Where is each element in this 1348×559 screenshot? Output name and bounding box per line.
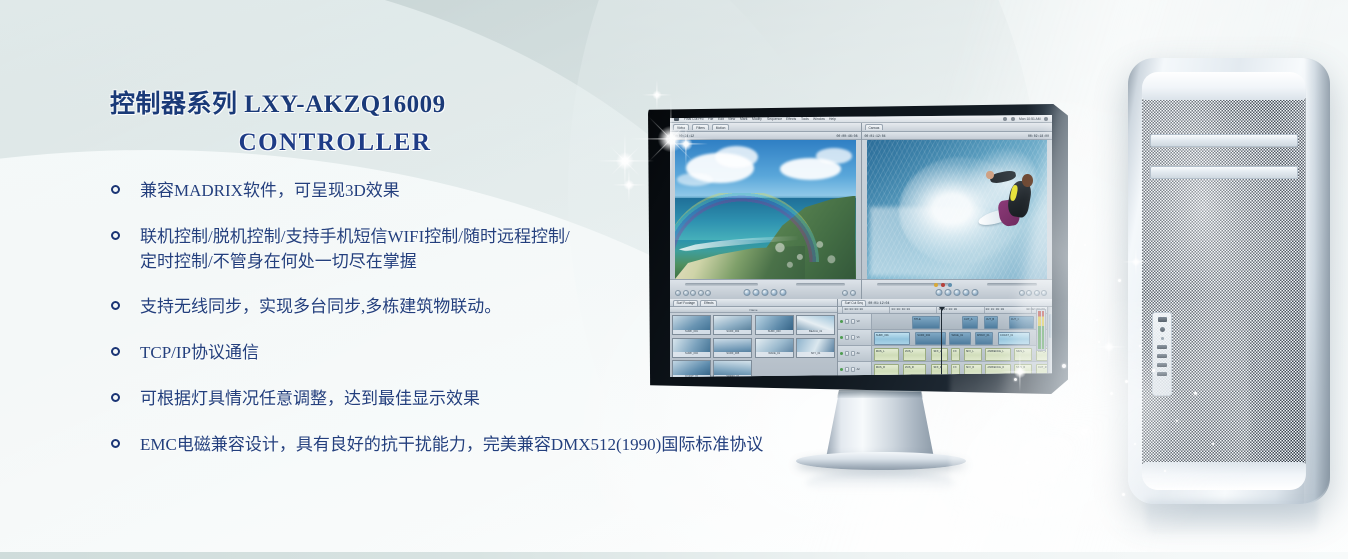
coastline-rainbow-image: [675, 140, 856, 279]
render-status-icon: [934, 283, 938, 287]
timeline-clip[interactable]: CUT_C: [1009, 316, 1034, 329]
list-item[interactable]: BEACH_01: [796, 315, 835, 335]
viewer-video-canvas: [675, 140, 856, 279]
canvas-go-to-end-icon[interactable]: [971, 289, 978, 296]
go-to-start-icon[interactable]: [744, 289, 751, 296]
surfer-hand: [986, 171, 993, 180]
audio-meter: [1036, 309, 1046, 351]
canvas-video-canvas: [867, 140, 1048, 279]
timeline-clip[interactable]: AMBIENCE_L: [985, 348, 1010, 361]
browser-column-header[interactable]: Name: [670, 307, 837, 313]
track-audible-icon[interactable]: [840, 368, 843, 371]
search-icon[interactable]: [1044, 117, 1048, 121]
track-visibility-icon[interactable]: [840, 336, 843, 339]
view-options-icon[interactable]: [1034, 290, 1040, 296]
clip-label: SURF_005: [714, 352, 751, 357]
clip-label: WAVE_01: [951, 333, 963, 339]
track-label: A1: [857, 352, 860, 355]
clip-label: MUS_L: [905, 349, 914, 355]
clip-label: OUT_R: [1038, 365, 1047, 371]
timeline-ruler[interactable]: 00:00:00:00 00:00:30:00 00:01:00:00 00:0…: [838, 307, 1052, 314]
list-item[interactable]: SPRAY_01: [713, 360, 752, 377]
canvas-zoom-slider[interactable]: [987, 283, 1037, 286]
audio-status-icon: [948, 283, 952, 287]
track-lock-icon[interactable]: [845, 335, 850, 340]
menubar-status-area[interactable]: Mon 10:51 AM: [1003, 117, 1048, 121]
track-label: V2: [857, 320, 860, 323]
clip-label: AMBIENCE_L: [987, 349, 1003, 355]
sparkle-star-icon: [1092, 330, 1126, 364]
clip-label: FX: [953, 349, 956, 355]
tower-side-edge: [1304, 58, 1330, 504]
monitor-screen: Final Cut Pro File Edit View Mark Modify…: [670, 115, 1052, 377]
clip-label: MUS_R: [1016, 365, 1025, 371]
track-auto-select-icon[interactable]: [851, 367, 856, 372]
canvas-duration[interactable]: 00:02:18:00: [1028, 134, 1049, 138]
timeline-track[interactable]: V1 SURF_001 SURF_002 WAVE_01 SPRAY_01 CO…: [838, 330, 1052, 346]
clip-label: WAVE_01: [756, 352, 793, 357]
monitor-stand-base: [796, 452, 966, 470]
clip-label: MUS_L: [1016, 349, 1025, 355]
tower-reflection: [1146, 500, 1318, 542]
generators-icon[interactable]: [850, 290, 856, 296]
list-item[interactable]: SURF_004: [672, 338, 711, 358]
viewer-left-buttons[interactable]: [675, 290, 711, 296]
track-audible-icon[interactable]: [840, 352, 843, 355]
tab-video[interactable]: Video: [673, 124, 689, 130]
feature-text: EMC电磁兼容设计，具有良好的抗干扰能力，完美兼容DMX512(1990)国际标…: [140, 432, 850, 457]
list-item[interactable]: SKY_01: [796, 338, 835, 358]
clip-label: SPRAY_01: [977, 333, 990, 339]
list-item: EMC电磁兼容设计，具有良好的抗干扰能力，完美兼容DMX512(1990)国际标…: [110, 432, 850, 457]
scrubber-bar[interactable]: [685, 283, 757, 286]
audio-port-icon[interactable]: [1160, 327, 1165, 332]
clip-label: BEACH_01: [797, 330, 834, 335]
list-item[interactable]: WAVE_01: [755, 338, 794, 358]
menu-item-window[interactable]: Window: [813, 116, 825, 120]
display-monitor: Final Cut Pro File Edit View Mark Modify…: [648, 104, 1068, 394]
canvas-play-reverse-icon[interactable]: [944, 289, 951, 296]
tab-effects[interactable]: Effects: [700, 300, 717, 306]
browser-thumbnail-grid[interactable]: SURF_001 SURF_002 SURF_003 BEACH_01 SURF…: [672, 315, 835, 375]
recent-clips-icon[interactable]: [842, 290, 848, 296]
clip-label: COAST_01: [1000, 333, 1013, 339]
monitor-stand-reflection: [806, 470, 956, 496]
add-keyframe-icon[interactable]: [690, 290, 696, 296]
list-item[interactable]: SURF_001: [672, 315, 711, 335]
clip-label: FX: [953, 365, 956, 371]
clip-label: SFX_R: [966, 365, 974, 371]
track-label: V1: [857, 336, 860, 339]
usb-port-icon[interactable]: [1157, 345, 1167, 349]
timeline-clip[interactable]: MUS_L: [1014, 348, 1032, 361]
menubar-clock[interactable]: Mon 10:51 AM: [1019, 116, 1041, 120]
timeline-scrollbar[interactable]: [1047, 307, 1052, 377]
track-auto-select-icon[interactable]: [851, 335, 856, 340]
canvas-zoom-icon[interactable]: [1041, 290, 1047, 296]
viewer-infobar: 00:00:24:12 00:00:46:08: [670, 132, 861, 140]
bullet-circle-icon: [111, 231, 120, 240]
lower-panels: Surf Footage Effects Name SURF_001 SURF_…: [670, 299, 1052, 377]
timeline-clip[interactable]: MUS_L: [903, 348, 926, 361]
tab-filters[interactable]: Filters: [692, 124, 709, 130]
bottom-accent-strip: [0, 552, 1348, 559]
canvas-status-dots: [934, 283, 952, 287]
canvas-infobar: 00:01:12:04 00:02:18:00: [862, 132, 1053, 140]
list-item[interactable]: SURF_002: [713, 315, 752, 335]
tower-port-bay[interactable]: [1152, 312, 1172, 396]
surfer-figure: [977, 171, 1038, 249]
surfer-head: [1022, 174, 1033, 187]
tower-top-cap: [1142, 72, 1306, 100]
ethernet-port-icon[interactable]: [1157, 372, 1167, 376]
canvas-step-forward-icon[interactable]: [962, 289, 969, 296]
canvas-transport-controls[interactable]: [935, 289, 978, 296]
browser-tabbar[interactable]: Surf Footage Effects: [670, 299, 837, 307]
bullet-circle-icon: [111, 439, 120, 448]
clip-label: SFX_L: [966, 349, 974, 355]
bullet-circle-icon: [111, 347, 120, 356]
timeline-clip[interactable]: FX: [951, 348, 960, 361]
mac-pro-tower: [1128, 58, 1330, 504]
canvas-panel[interactable]: Canvas 00:01:12:04 00:02:18:00: [862, 123, 1053, 299]
bullet-circle-icon: [111, 185, 120, 194]
list-item[interactable]: COAST_01: [672, 360, 711, 377]
canvas-controls[interactable]: [862, 279, 1053, 299]
timeline-clip[interactable]: WAVE_01: [949, 332, 971, 345]
bullet-circle-icon: [111, 301, 120, 310]
clip-label: SURF_002: [714, 330, 751, 335]
transport-controls[interactable]: [744, 289, 787, 296]
track-clips[interactable]: MUS_L MUS_L SFX_L FX SFX_L AMBIENCE_L MU…: [872, 346, 1052, 361]
clip-label: SURF_003: [756, 330, 793, 335]
viewer-controls[interactable]: [670, 279, 861, 299]
canvas-timecode[interactable]: 00:01:12:04: [865, 134, 886, 138]
tab-canvas[interactable]: Canvas: [865, 124, 884, 130]
surfer-wave-image: [867, 140, 1048, 279]
menu-item-help[interactable]: Help: [829, 116, 836, 120]
viewer-panel[interactable]: Video Filters Motion 00:00:24:12 00:00:4…: [670, 123, 862, 299]
sparkle-star-icon: [1038, 466, 1068, 496]
bullet-circle-icon: [111, 393, 120, 402]
track-label: A2: [857, 368, 860, 371]
optical-drive-slot-2[interactable]: [1150, 166, 1298, 179]
timeline-clip[interactable]: CUT_B: [984, 316, 998, 329]
tower-front-panel: [1142, 72, 1306, 490]
timeline-clip[interactable]: SURF_001: [874, 332, 910, 345]
canvas-play-icon[interactable]: [953, 289, 960, 296]
clip-label: SKY_01: [797, 352, 834, 357]
playhead[interactable]: [941, 307, 942, 377]
record-indicator-icon: [941, 283, 945, 287]
track-clips[interactable]: SURF_001 SURF_002 WAVE_01 SPRAY_01 COAST…: [872, 330, 1052, 345]
match-frame-icon[interactable]: [705, 290, 711, 296]
zoom-slider[interactable]: [796, 283, 846, 286]
play-icon[interactable]: [762, 289, 769, 296]
clip-label: SURF_001: [673, 330, 710, 335]
mark-in-icon[interactable]: [675, 290, 681, 296]
timeline-clip[interactable]: SFX_L: [931, 348, 947, 361]
clip-label: CUT_C: [1011, 317, 1020, 323]
go-to-end-icon[interactable]: [780, 289, 787, 296]
battery-icon[interactable]: [1011, 117, 1015, 121]
ruler-label: 00:00:00:00: [844, 308, 862, 311]
tower-mesh-grille: [1142, 98, 1306, 464]
track-lock-icon[interactable]: [845, 319, 850, 324]
timeline-clip[interactable]: COAST_01: [998, 332, 1030, 345]
list-item[interactable]: SURF_003: [755, 315, 794, 335]
display-port-icon[interactable]: [1157, 363, 1167, 367]
timeline-track[interactable]: A1 MUS_L MUS_L SFX_L FX SFX_L AMBIENCE_L…: [838, 346, 1052, 362]
sparkle-star-icon: [1058, 406, 1110, 458]
optical-drive-slot-1[interactable]: [1150, 134, 1298, 147]
track-header[interactable]: A2: [838, 362, 872, 377]
list-item[interactable]: SURF_005: [713, 338, 752, 358]
mark-out-icon[interactable]: [683, 290, 689, 296]
edit-overwrite-icon[interactable]: [1019, 290, 1025, 296]
timeline-panel[interactable]: Surf Cut Seq 00:01:12:04 00:00:00:00 00:…: [838, 299, 1052, 377]
step-forward-icon[interactable]: [771, 289, 778, 296]
clip-label: COAST_01: [673, 375, 710, 378]
canvas-tabbar[interactable]: Canvas: [862, 123, 1053, 132]
tab-motion[interactable]: Motion: [712, 124, 730, 130]
add-marker-icon[interactable]: [698, 290, 704, 296]
timeline-clip[interactable]: MUS_R: [874, 364, 899, 377]
clip-label: TITLE: [914, 317, 921, 323]
power-indicator-icon: [1161, 337, 1164, 340]
timeline-clip[interactable]: MUS_L: [874, 348, 899, 361]
wifi-icon[interactable]: [1003, 117, 1007, 121]
clip-label: SURF_004: [673, 352, 710, 357]
track-header[interactable]: V1: [838, 330, 872, 345]
edit-insert-icon[interactable]: [1026, 290, 1032, 296]
ruler-label: 00:00:30:00: [892, 308, 910, 311]
canvas-right-buttons[interactable]: [1019, 290, 1048, 296]
scrollbar-thumb[interactable]: [1049, 314, 1053, 338]
play-reverse-icon[interactable]: [753, 289, 760, 296]
timeline-tabbar[interactable]: Surf Cut Seq 00:01:12:04: [838, 299, 1052, 307]
firewire-port-icon[interactable]: [1158, 317, 1167, 322]
tab-surf-footage[interactable]: Surf Footage: [673, 300, 698, 306]
clip-label: MUS_L: [876, 349, 885, 355]
tower-bottom-cap: [1142, 462, 1306, 490]
track-clips[interactable]: TITLE CUT_A CUT_B CUT_C: [872, 314, 1052, 329]
timeline-clip[interactable]: SPRAY_01: [975, 332, 993, 345]
timeline-track[interactable]: V2 TITLE CUT_A CUT_B CUT_C: [838, 314, 1052, 330]
clip-label: CUT_A: [964, 317, 973, 323]
timeline-timecode[interactable]: 00:01:12:04: [868, 301, 889, 305]
tab-sequence[interactable]: Surf Cut Seq: [841, 300, 866, 306]
track-visibility-icon[interactable]: [840, 320, 843, 323]
timeline-clip[interactable]: TITLE: [912, 316, 941, 329]
track-auto-select-icon[interactable]: [851, 319, 856, 324]
clip-label: SURF_001: [876, 333, 889, 339]
clip-label: MUS_R: [905, 365, 914, 371]
viewer-row: Video Filters Motion 00:00:24:12 00:00:4…: [670, 123, 1052, 299]
viewer-duration[interactable]: 00:00:46:08: [836, 134, 857, 138]
track-lock-icon[interactable]: [845, 351, 850, 356]
product-banner: 控制器系列 LXY-AKZQ16009 CONTROLLER 兼容MADRIX软…: [0, 0, 1348, 559]
viewer-timecode[interactable]: 00:00:24:12: [673, 134, 694, 138]
usb-port-icon[interactable]: [1157, 354, 1167, 358]
viewer-right-buttons[interactable]: [842, 290, 856, 296]
timeline-clip[interactable]: SFX_L: [964, 348, 982, 361]
ruler-label: 00:01:30:00: [986, 308, 1004, 311]
browser-panel[interactable]: Surf Footage Effects Name SURF_001 SURF_…: [670, 299, 838, 377]
track-lock-icon[interactable]: [845, 367, 850, 372]
monitor-stand-neck: [826, 392, 934, 458]
timeline-clip[interactable]: CUT_A: [962, 316, 978, 329]
clip-label: SURF_002: [917, 333, 930, 339]
viewer-tabbar[interactable]: Video Filters Motion: [670, 123, 861, 132]
monitor-stand-neck-shadow: [826, 390, 934, 398]
clip-label: MUS_R: [876, 365, 885, 371]
clip-label: AMBIENCE_R: [987, 365, 1004, 371]
canvas-go-to-start-icon[interactable]: [935, 289, 942, 296]
track-header[interactable]: V2: [838, 314, 872, 329]
clip-label: CUT_B: [986, 317, 995, 323]
track-auto-select-icon[interactable]: [851, 351, 856, 356]
track-header[interactable]: A1: [838, 346, 872, 361]
